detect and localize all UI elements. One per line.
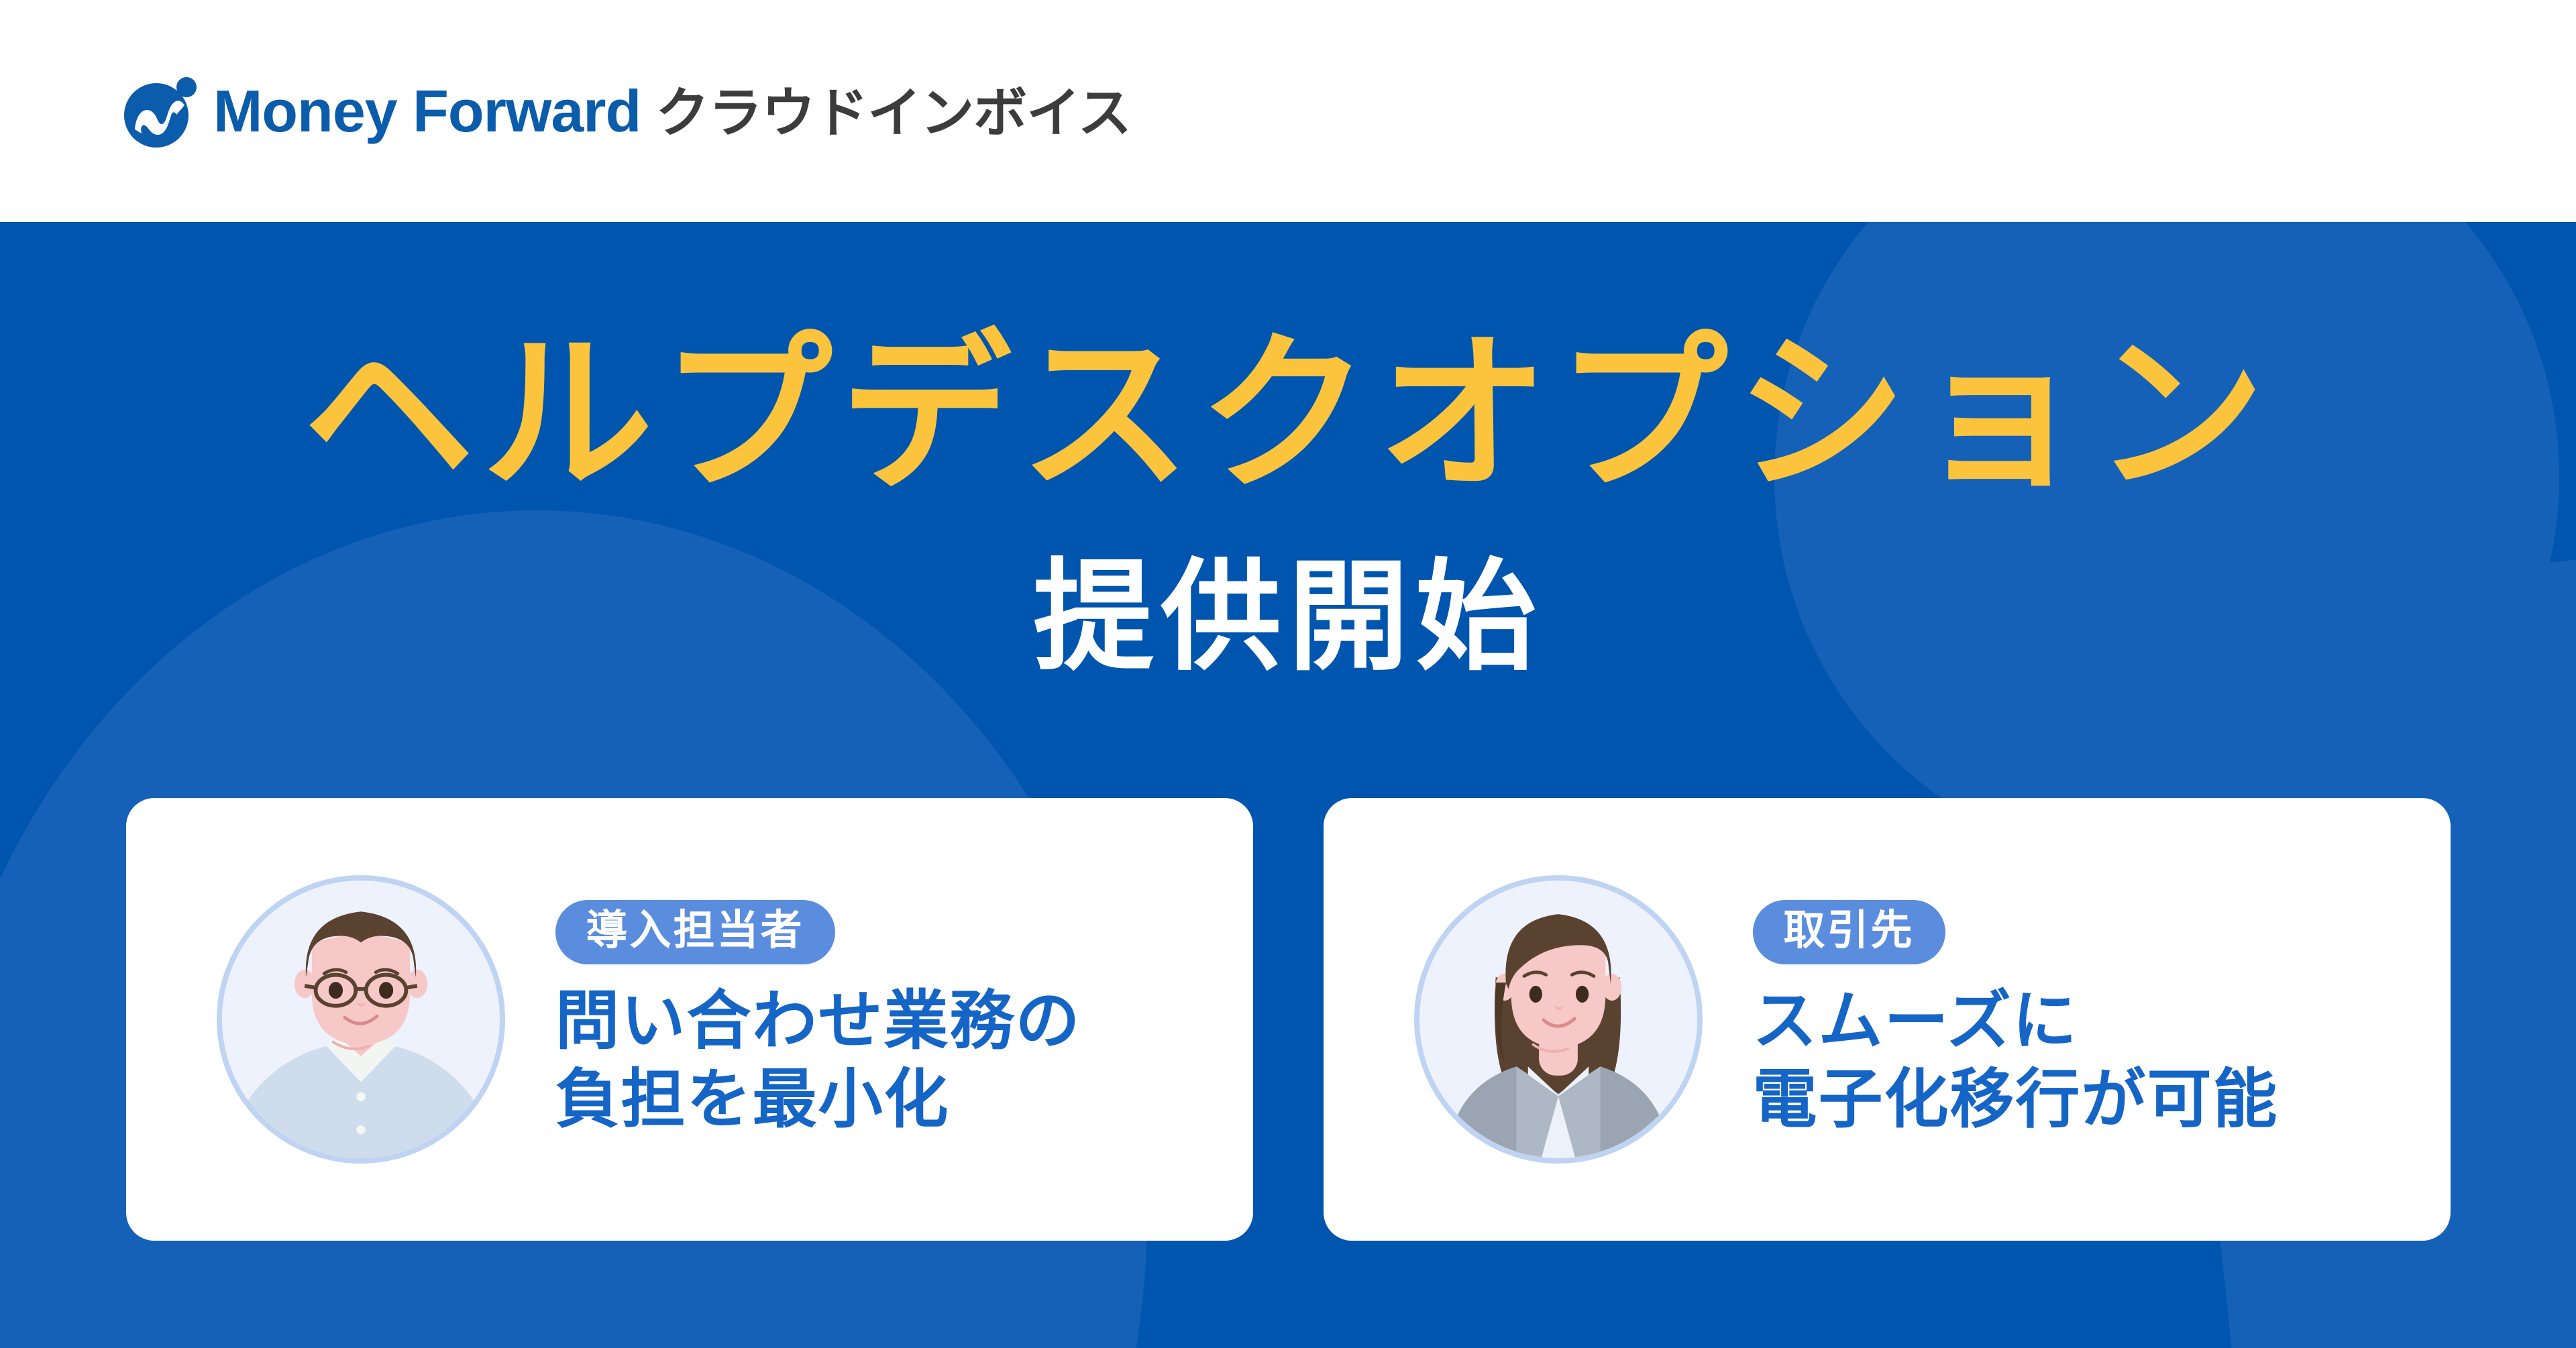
card-body: 導入担当者 問い合わせ業務の 負担を最小化 [555,900,1081,1139]
card-line: 負担を最小化 [555,1060,1081,1139]
status-badge: 取引先 [1753,900,1945,964]
card-line: 電子化移行が可能 [1753,1060,2279,1139]
site-header: Money Forward クラウドインボイス [0,0,2576,222]
avatar-man-with-glasses [217,875,505,1164]
card-text: スムーズに 電子化移行が可能 [1753,982,2279,1139]
moneyforward-logo-icon [123,73,199,149]
page-root: Money Forward クラウドインボイス ヘルプデスクオプション 提供開始 [0,0,2576,1348]
card-text: 問い合わせ業務の 負担を最小化 [555,982,1081,1139]
card-body: 取引先 スムーズに 電子化移行が可能 [1753,900,2279,1139]
feature-card[interactable]: 導入担当者 問い合わせ業務の 負担を最小化 [126,798,1253,1241]
brand-text: Money Forward クラウドインボイス [213,82,1131,141]
brand-lockup[interactable]: Money Forward クラウドインボイス [123,73,1131,149]
card-line: 問い合わせ業務の [555,982,1081,1060]
brand-name-en: Money Forward [213,82,641,141]
brand-name-jp: クラウドインボイス [655,87,1131,140]
status-badge: 導入担当者 [555,900,835,964]
card-line: スムーズに [1753,982,2279,1060]
feature-card-row: 導入担当者 問い合わせ業務の 負担を最小化 [0,798,2576,1241]
feature-card[interactable]: 取引先 スムーズに 電子化移行が可能 [1324,798,2451,1241]
avatar-woman-long-hair [1414,875,1703,1164]
